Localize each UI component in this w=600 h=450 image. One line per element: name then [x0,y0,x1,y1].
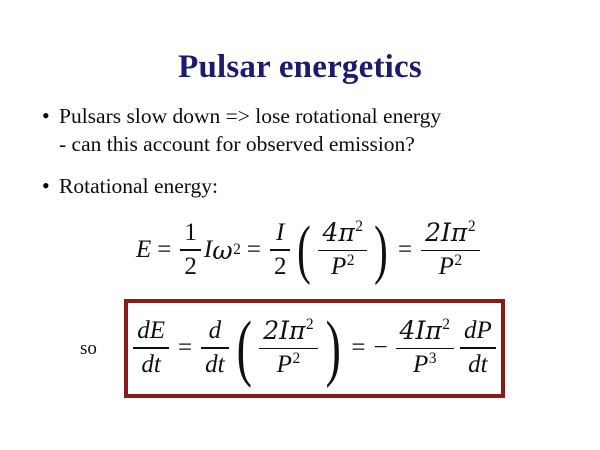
eq2-four-i-pi: 4Iπ [400,316,442,345]
so-label: so [80,338,97,360]
eq1-parenthesis-group: ( 4π2 P2 ) [293,212,392,288]
eq1-four-pi-numerator: 4π2 [318,219,367,248]
eq2-dE: dE [133,317,169,345]
highlighted-equation-box: dE dt = d dt ( 2Iπ2 P2 ) = − [124,299,505,398]
eq1-i-over-two: I 2 [270,219,291,281]
equation-rotational-energy: E = 1 2 I ω2 = I 2 ( 4π2 P2 ) = 2Iπ2 [136,212,483,288]
equation-energy-loss-rate: dE dt = d dt ( 2Iπ2 P2 ) = − [130,306,499,391]
eq1-paren-open: ( [298,212,312,288]
eq2-minus-sign: − [373,334,387,362]
eq1-lhs: E [136,236,151,264]
eq2-dt-2: dt [201,351,228,379]
eq2-parenthesis-group: ( 2Iπ2 P2 ) [232,306,346,391]
eq1-p: P [331,253,346,280]
eq2-paren-open: ( [236,306,251,391]
eq2-p: P [277,351,292,378]
eq2-four-i-pi-numerator: 4Iπ2 [396,317,454,346]
eq2-two-i-pi-over-p-squared: 2Iπ2 P2 [259,317,317,380]
eq1-four-pi: 4π [322,218,354,247]
bullet-dot-icon: • [38,172,59,200]
eq1-four-pi-squared-over-p-squared: 4π2 P2 [318,219,367,282]
bullet-text-2-line1: Rotational energy: [59,174,218,198]
eq2-d-dt-operator: d dt [201,317,228,379]
eq1-omega: ω [212,236,232,265]
fraction-bar [180,249,201,251]
eq1-equals-2: = [247,236,261,264]
eq1-i-over-two-numerator: I [272,219,288,247]
eq1-i-over-two-denominator: 2 [270,253,291,281]
eq1-inertia: I [204,236,212,264]
eq1-p-exponent: 2 [347,252,355,269]
list-item: • Rotational energy: [38,172,578,200]
page-title: Pulsar energetics [0,48,600,86]
bullet-text-1: Pulsars slow down => lose rotational ene… [59,102,578,158]
eq2-dP-dt: dP dt [460,317,496,379]
eq2-p-cube-denominator: P3 [409,351,441,379]
eq1-two-i-pi: 2Iπ [425,218,467,247]
eq2-p-cube-exponent: 3 [429,350,437,367]
eq1-half-numerator: 1 [180,219,201,247]
bullet-text-1-line2: - can this account for observed emission… [59,130,578,158]
eq1-paren-close: ) [374,212,388,288]
eq1-four-pi-exponent: 2 [355,218,363,235]
eq2-equals-1: = [178,334,192,362]
eq1-result-p-exponent: 2 [454,252,462,269]
eq2-paren-close: ) [325,306,340,391]
eq1-result-denominator: P2 [435,253,467,281]
fraction-bar [270,249,291,251]
eq1-equals-1: = [157,236,171,264]
eq2-dP: dP [460,317,496,345]
eq2-d: d [205,317,226,345]
bullet-dot-icon: • [38,102,59,130]
eq2-p-cube: P [413,351,428,378]
eq2-two-i-pi: 2Iπ [263,316,305,345]
eq1-two-i-pi-exponent: 2 [468,218,476,235]
eq1-result-numerator: 2Iπ2 [421,219,479,248]
list-item: • Pulsars slow down => lose rotational e… [38,102,578,158]
slide-canvas: Pulsar energetics • Pulsars slow down =>… [0,0,600,450]
eq1-p-denominator: P2 [327,253,359,281]
fraction-bar [396,348,454,350]
eq2-p-denominator: P2 [273,351,305,379]
eq2-p-exponent: 2 [292,350,300,367]
eq1-result: 2Iπ2 P2 [421,219,479,282]
eq1-equals-3: = [398,236,412,264]
eq2-four-i-pi-exponent: 2 [442,316,450,333]
bullet-list: • Pulsars slow down => lose rotational e… [38,102,578,204]
fraction-bar [460,347,496,349]
fraction-bar [421,250,479,252]
eq2-dt-1: dt [137,351,164,379]
fraction-bar [259,348,317,350]
eq2-four-i-pi-over-p-cubed: 4Iπ2 P3 [396,317,454,380]
bullet-text-1-line1: Pulsars slow down => lose rotational ene… [59,104,441,128]
fraction-bar [201,347,228,349]
fraction-bar [318,250,367,252]
eq2-dE-dt: dE dt [133,317,169,379]
bullet-spacer [38,162,578,172]
bullet-text-2: Rotational energy: [59,172,578,200]
eq2-two-i-pi-numerator: 2Iπ2 [259,317,317,346]
eq2-dt-3: dt [464,351,491,379]
eq1-half-denominator: 2 [180,253,201,281]
eq1-one-half: 1 2 [180,219,201,281]
eq1-result-p: P [439,253,454,280]
fraction-bar [133,347,169,349]
eq2-two-i-pi-exponent: 2 [306,316,314,333]
eq2-equals-2: = [351,334,365,362]
